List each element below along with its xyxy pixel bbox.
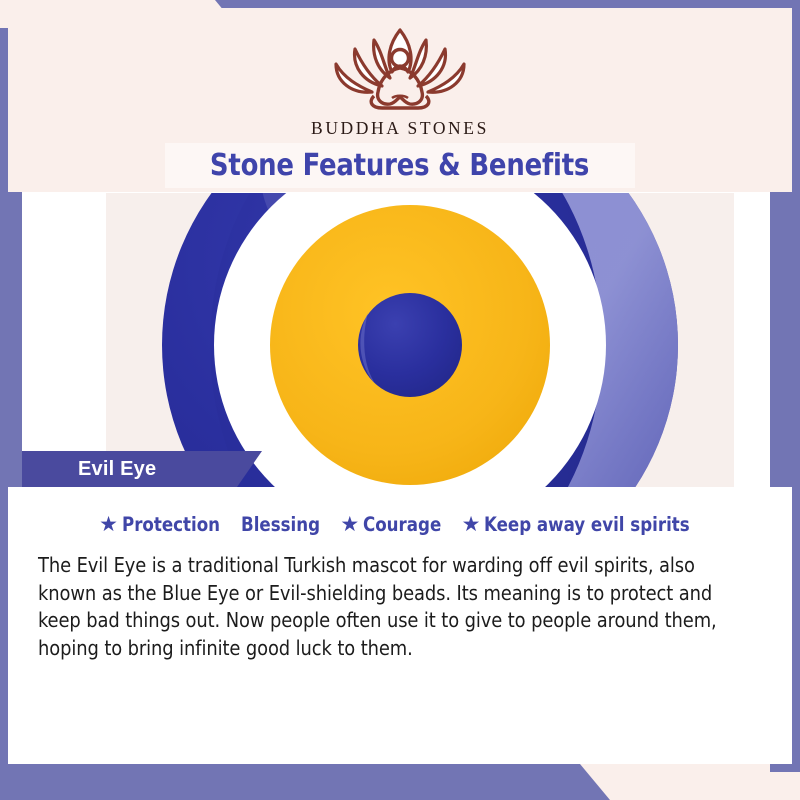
feature-item-keep-away-evil-spirits: ★ Keep away evil spirits	[462, 513, 701, 536]
footer-canvas	[8, 703, 792, 764]
hero-image	[106, 193, 734, 487]
star-icon: ★	[462, 514, 481, 535]
feature-label-blessing: Blessing	[241, 513, 320, 536]
lotus-meditation-figure-icon	[310, 22, 490, 114]
feature-label-keep-away-evil-spirits: Keep away evil spirits	[484, 513, 690, 536]
feature-item-protection: ★ Protection	[99, 513, 225, 536]
stone-name-label: Evil Eye	[78, 458, 156, 481]
bottom-accent-band	[0, 764, 610, 800]
feature-label-courage: Courage	[363, 513, 441, 536]
brand-name: BUDDHA STONES	[311, 118, 489, 139]
poster-root: BUDDHA STONES Stone Features & Benefits	[0, 0, 800, 800]
star-icon: ★	[340, 514, 359, 535]
page-title: Stone Features & Benefits	[210, 148, 589, 183]
brand-logo: BUDDHA STONES	[8, 22, 792, 139]
feature-label-protection: Protection	[122, 513, 220, 536]
stone-name-badge: Evil Eye	[22, 451, 262, 487]
star-icon: ★	[99, 514, 118, 535]
content-panel: ★ Protection Blessing ★ Courage ★ Keep a…	[8, 487, 792, 703]
description-text: The Evil Eye is a traditional Turkish ma…	[38, 552, 742, 662]
feature-item-courage: ★ Courage	[340, 513, 445, 536]
page-title-band: Stone Features & Benefits	[165, 143, 635, 188]
feature-list: ★ Protection Blessing ★ Courage ★ Keep a…	[8, 513, 792, 536]
feature-item-blessing: Blessing	[241, 513, 324, 536]
evil-eye-illustration-svg	[106, 193, 734, 487]
